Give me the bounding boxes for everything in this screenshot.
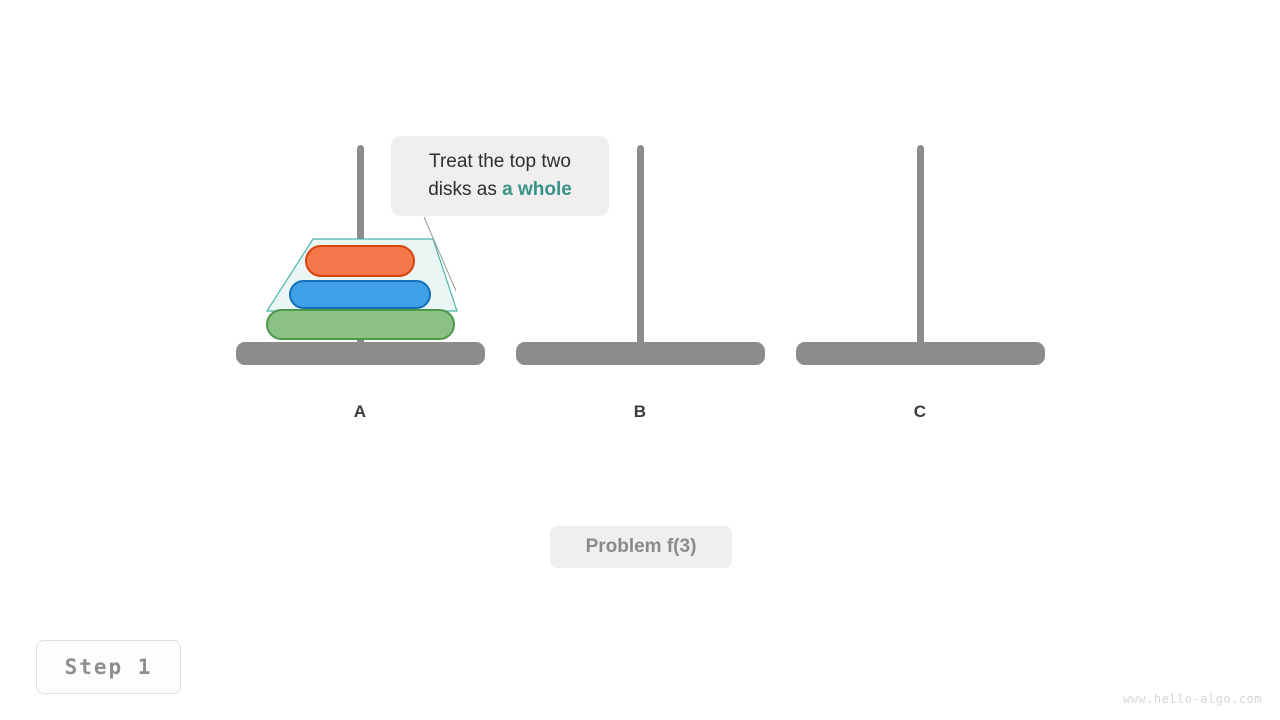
base-plate-a	[236, 342, 485, 365]
tower-b: B	[510, 0, 770, 440]
base-plate-c	[796, 342, 1045, 365]
tower-a: A	[230, 0, 490, 440]
rod-c	[917, 145, 924, 347]
tower-label-b: B	[510, 402, 770, 422]
watermark: www.hello-algo.com	[1123, 692, 1262, 706]
tooltip-line-1: Treat the top two	[429, 151, 571, 172]
tooltip-line-2-prefix: disks as	[428, 179, 502, 200]
annotation-tooltip: Treat the top two disks as a whole	[391, 136, 609, 216]
tower-label-a: A	[230, 402, 490, 422]
disk-small-orange[interactable]	[305, 245, 415, 277]
tower-c: C	[790, 0, 1050, 440]
tower-label-c: C	[790, 402, 1050, 422]
tooltip-accent-a-whole: a whole	[502, 179, 572, 200]
disk-medium-blue[interactable]	[289, 280, 431, 309]
annotation-tooltip-text: Treat the top two disks as a whole	[428, 148, 572, 204]
tower-of-hanoi-illustration: A B C Treat the top two disks as a whole…	[0, 0, 1280, 720]
disk-large-green[interactable]	[266, 309, 455, 340]
rod-b	[637, 145, 644, 347]
problem-badge: Problem f(3)	[550, 526, 732, 568]
base-plate-b	[516, 342, 765, 365]
step-indicator: Step 1	[36, 640, 181, 694]
